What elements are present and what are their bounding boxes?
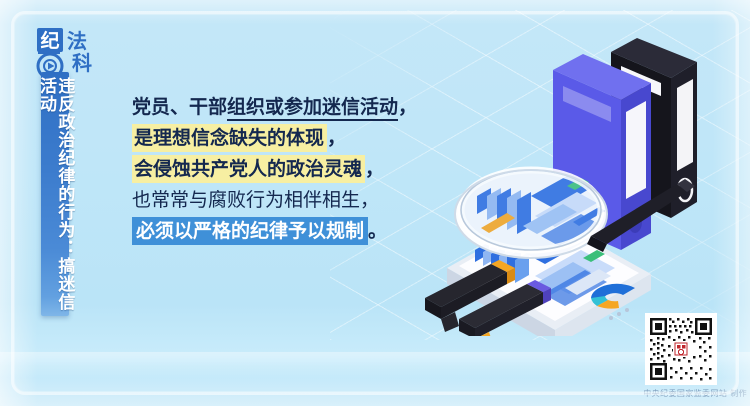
copy-line-4: 也常常与腐败行为相伴相生， (132, 191, 452, 211)
copy-line-1-prefix: 党员、干部 (132, 96, 227, 118)
copy-line-2-highlight: 是理想信念缺失的体现 (132, 124, 327, 152)
svg-text:科: 科 (72, 51, 92, 75)
logo-char-fa: 法 (67, 29, 87, 53)
copy-line-3: 会侵蚀共产党人的政治灵魂， (132, 160, 452, 180)
qr-code-block[interactable] (645, 313, 717, 385)
logo-char-ke: 科 (72, 51, 92, 75)
copy-line-3-highlight: 会侵蚀共产党人的政治灵魂 (132, 155, 365, 183)
illustration-documents-magnifier (415, 36, 715, 336)
poster: 纪 法 科 违反政治纪律的行为：搞迷信活动 党员、干部组织或参加迷信活动， 是理… (0, 0, 750, 406)
credit-text: 中央纪委国家监委网站 制作 (612, 388, 747, 399)
copy-line-2: 是理想信念缺失的体现， (132, 129, 452, 149)
qr-code[interactable] (645, 313, 717, 385)
svg-text:纪: 纪 (40, 29, 59, 52)
copy-line-1: 党员、干部组织或参加迷信活动， (132, 98, 452, 118)
copy-line-2-suffix: ， (327, 127, 346, 149)
ribbon-title-text: 违反政治纪律的行为：搞迷信活动 (37, 77, 74, 316)
magnifying-glass-icon (455, 170, 607, 258)
vertical-title-ribbon: 违反政治纪律的行为：搞迷信活动 (41, 72, 69, 316)
copy-line-5-suffix: 。 (368, 220, 387, 242)
copy-line-5-highlight: 必须以严格的纪律予以规制 (132, 217, 368, 245)
copy-line-5: 必须以严格的纪律予以规制。 (132, 222, 452, 242)
floor-band (0, 352, 750, 378)
qr-center-badge (673, 341, 689, 357)
copy-line-3-suffix: ， (365, 158, 384, 180)
svg-text:法: 法 (67, 29, 87, 53)
main-copy-block: 党员、干部组织或参加迷信活动， 是理想信念缺失的体现， 会侵蚀共产党人的政治灵魂… (132, 98, 452, 253)
copy-line-1-underlined: 组织或参加迷信活动 (227, 96, 398, 121)
logo-char-ji: 纪 (37, 28, 63, 52)
